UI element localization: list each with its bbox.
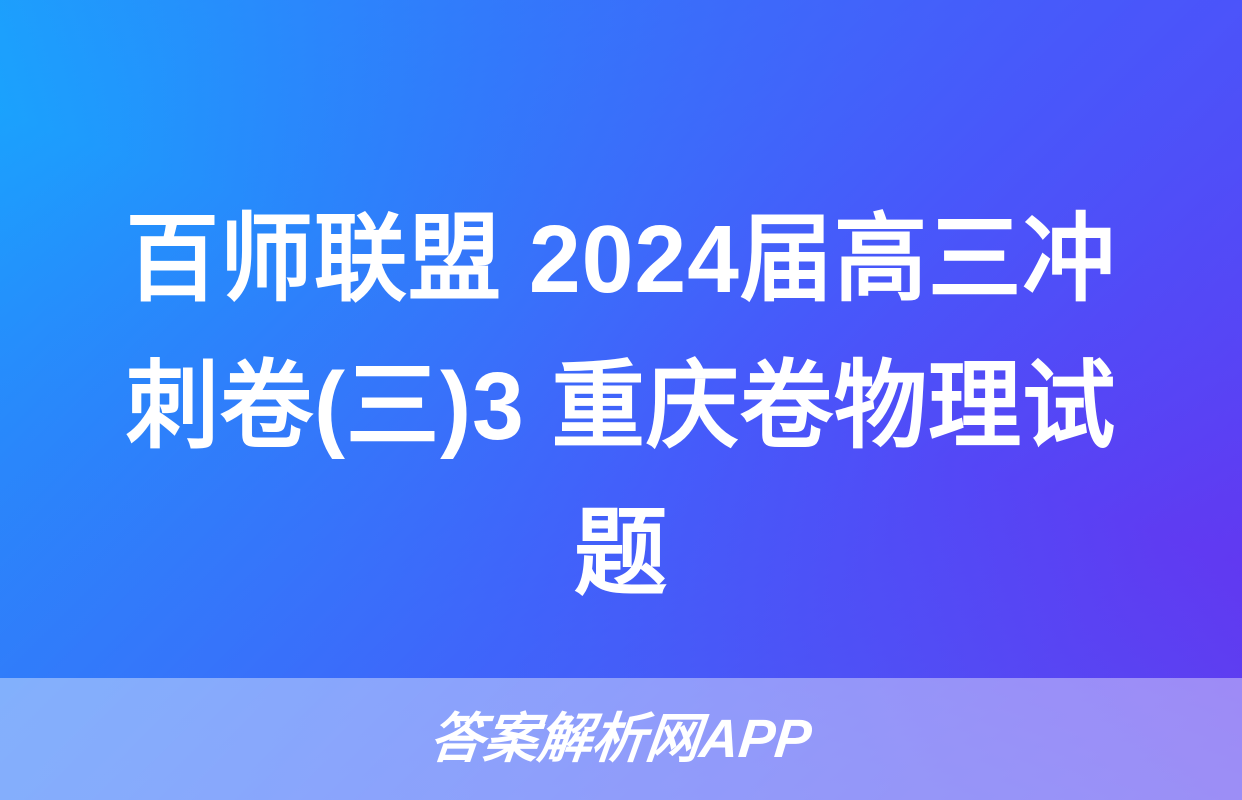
page-title-line-1: 百师联盟 2024届高三冲 (87, 186, 1156, 333)
page-title-line-2: 刺卷(三)3 重庆卷物理试 (87, 333, 1156, 480)
page-title-line-3: 题 (87, 480, 1156, 627)
watermark-band: 答案解析网APP (0, 678, 1242, 800)
watermark-app-label: 答案解析网APP (428, 712, 815, 766)
page-title: 百师联盟 2024届高三冲 刺卷(三)3 重庆卷物理试 题 (0, 186, 1242, 627)
exam-paper-cover-card: 百师联盟 2024届高三冲 刺卷(三)3 重庆卷物理试 题 答案解析网APP (0, 0, 1242, 800)
